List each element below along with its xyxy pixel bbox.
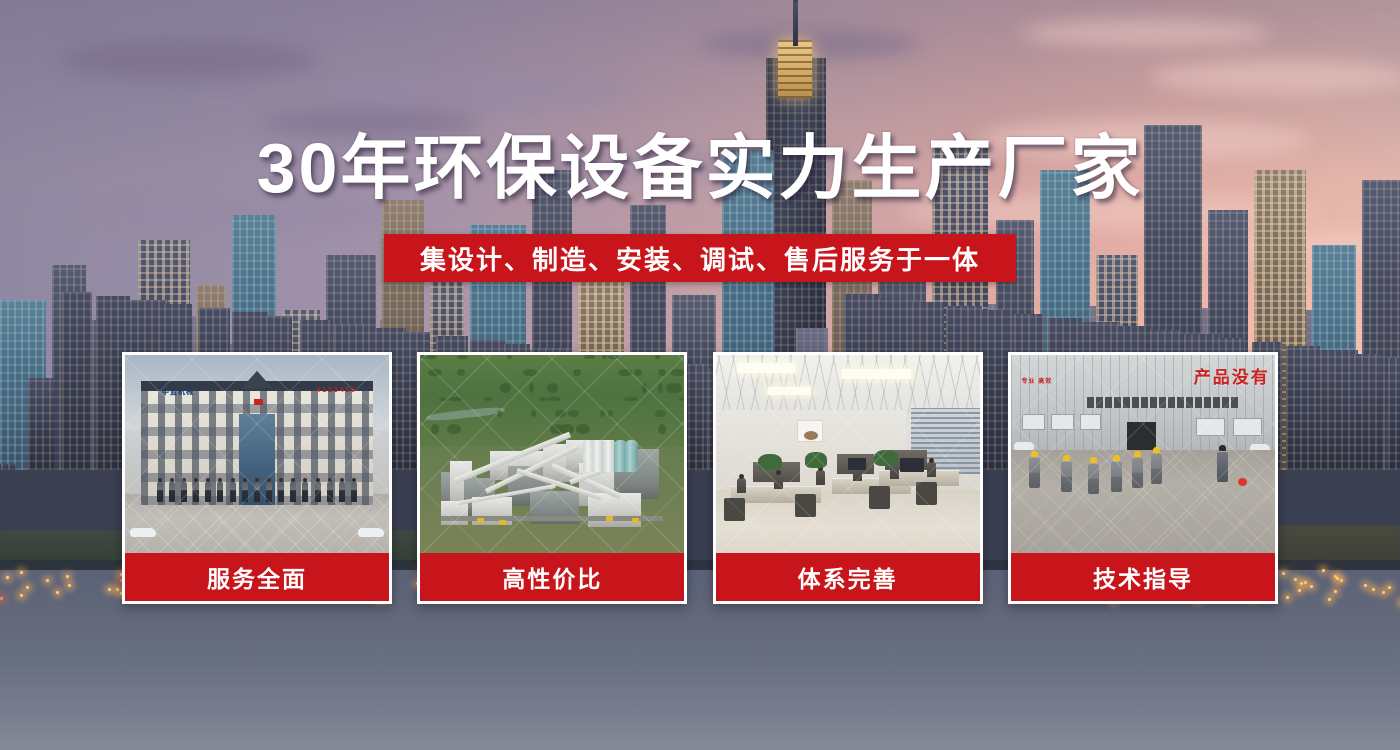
feature-card-service[interactable]: 中蓝机械 4113456 服务全面 [122,352,392,604]
feature-card-guidance[interactable]: 产品没有 专业 高效 技术指导 [1008,352,1278,604]
feature-card-system[interactable]: 体系完善 [713,352,983,604]
skyline-building [62,292,92,470]
hero-banner: 30年环保设备实力生产厂家 集设计、制造、安装、调试、售后服务于一体 [0,0,1400,750]
card-caption-service: 服务全面 [125,553,389,601]
subtitle-banner: 集设计、制造、安装、调试、售后服务于一体 [384,234,1016,282]
tower-antenna-spire [793,0,798,46]
feature-card-value[interactable]: 高性价比 [417,352,687,604]
card-photo-office-interior [716,355,980,553]
photo-phone-number: 4113456 [316,387,357,394]
skyline-building [1354,354,1382,470]
card-photo-company-building: 中蓝机械 4113456 [125,355,389,553]
skyline-building [28,378,54,470]
photo-signage-text: 中蓝机械 [162,387,194,397]
factory-wall-small-slogan: 专业 高效 [1022,379,1053,386]
tower-crown-lights [778,40,812,98]
subtitle-text: 集设计、制造、安装、调试、售后服务于一体 [420,240,980,277]
card-caption-value: 高性价比 [420,553,684,601]
skyline-building [1320,350,1358,470]
skyline-building [1286,346,1320,470]
skyline-building [0,464,16,470]
card-caption-system: 体系完善 [716,553,980,601]
page-title: 30年环保设备实力生产厂家 [0,132,1400,206]
card-photo-plant-aerial [420,355,684,553]
skyline-building [1388,358,1400,470]
card-caption-guidance: 技术指导 [1011,553,1275,601]
factory-wall-slogan: 产品没有 [1194,363,1270,388]
card-photo-factory-workers: 产品没有 专业 高效 [1011,355,1275,553]
feature-card-list: 中蓝机械 4113456 服务全面 高性价比 [122,352,1278,604]
